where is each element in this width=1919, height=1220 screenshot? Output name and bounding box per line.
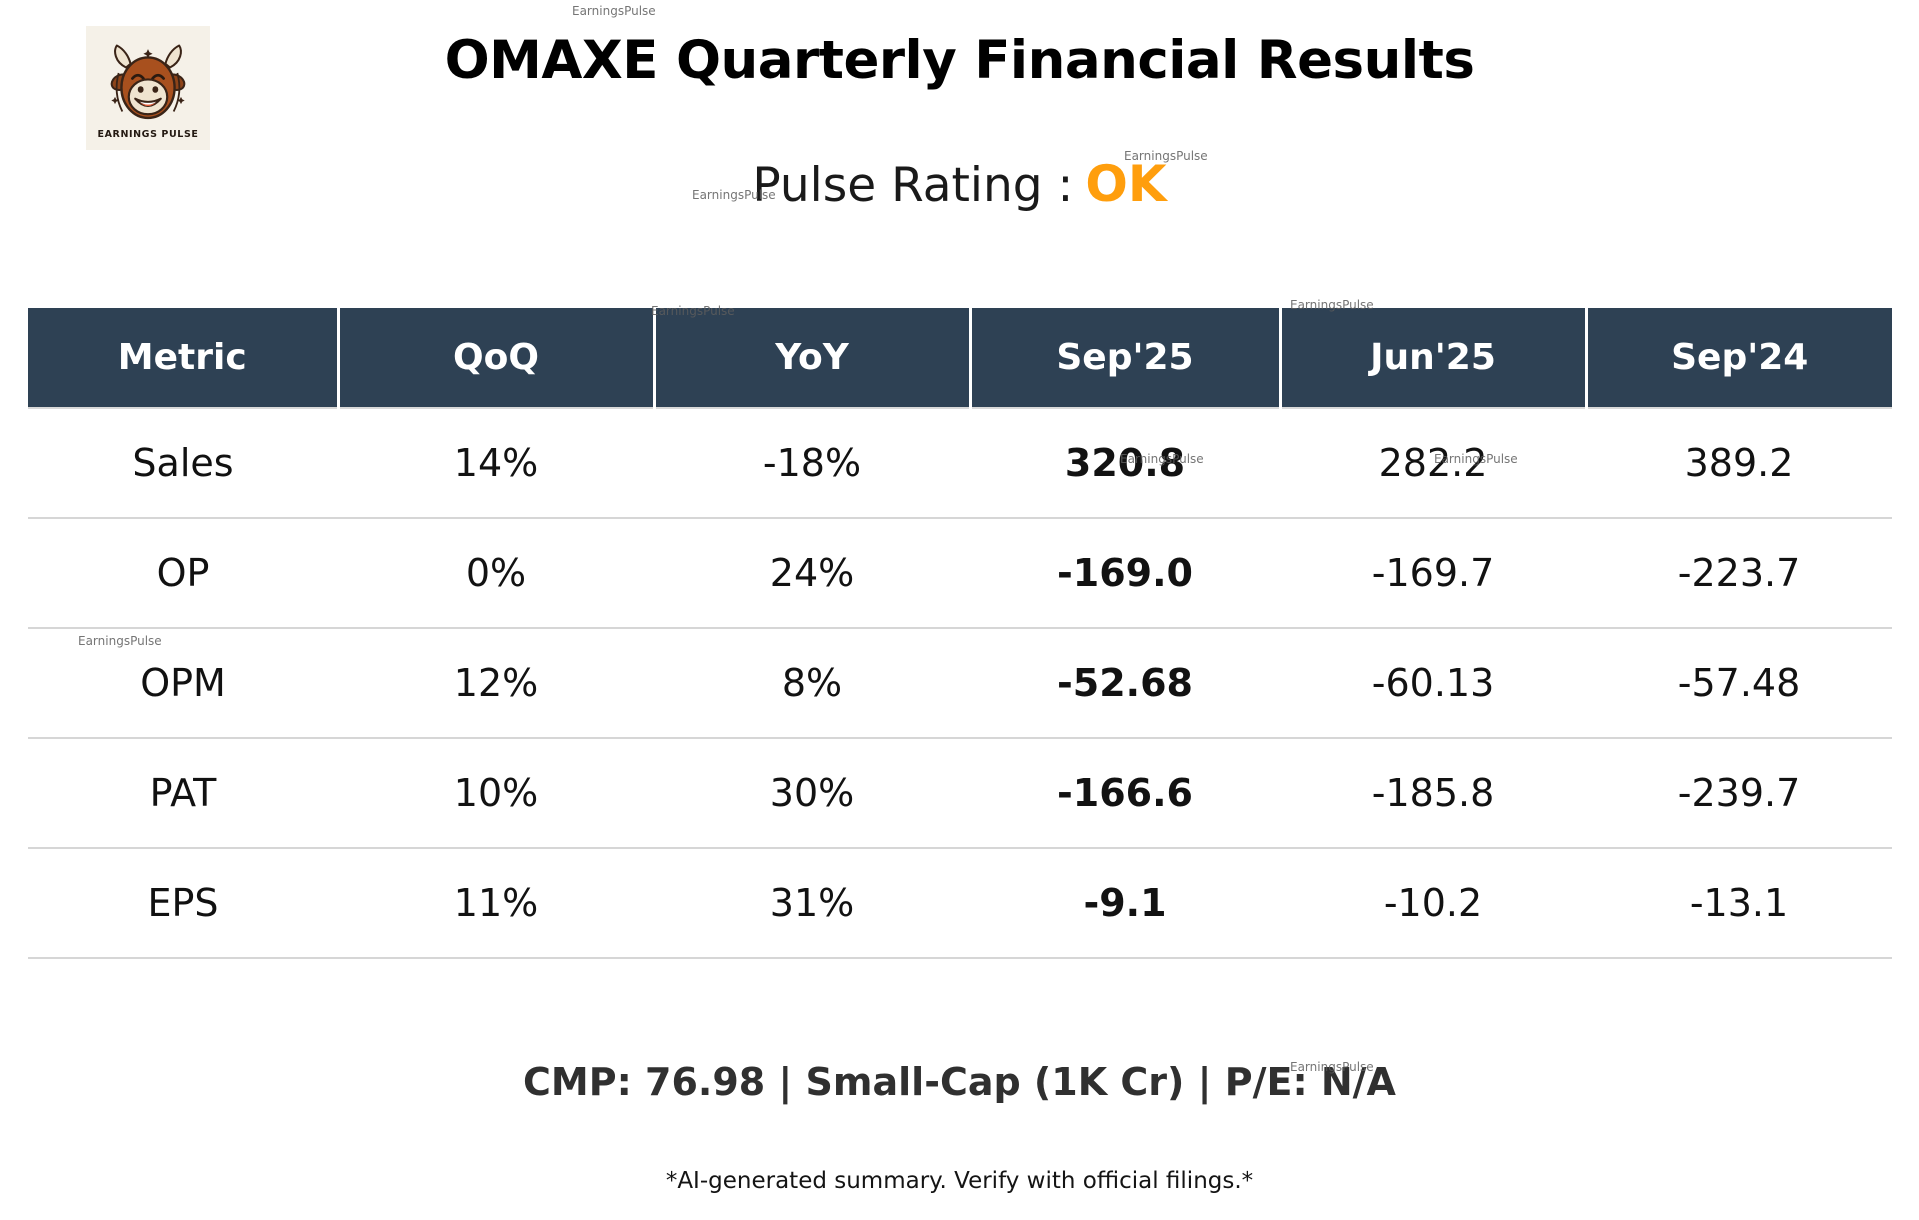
table-header-row: Metric QoQ YoY Sep'25 Jun'25 Sep'24 [28, 308, 1892, 408]
cell-year-ago-quarter: 389.2 [1586, 408, 1892, 518]
cell-yoy: 30% [654, 738, 970, 848]
table-row: PAT10%30%-166.6-185.8-239.7 [28, 738, 1892, 848]
table-row: OP0%24%-169.0-169.7-223.7 [28, 518, 1892, 628]
cell-qoq: 0% [338, 518, 654, 628]
cell-current-quarter: 320.8 [970, 408, 1280, 518]
column-header-current-quarter: Sep'25 [970, 308, 1280, 408]
cell-metric-name: OPM [28, 628, 338, 738]
table-row: EPS11%31%-9.1-10.2-13.1 [28, 848, 1892, 958]
cell-previous-quarter: -185.8 [1280, 738, 1586, 848]
disclaimer-text: *AI-generated summary. Verify with offic… [0, 1168, 1919, 1194]
column-header-yoy: YoY [654, 308, 970, 408]
cell-yoy: 31% [654, 848, 970, 958]
cell-yoy: 8% [654, 628, 970, 738]
pulse-rating: Pulse Rating :OK [0, 155, 1919, 213]
financial-results-card: EARNINGS PULSE OMAXE Quarterly Financial… [0, 0, 1919, 1220]
market-summary-line: CMP: 76.98 | Small-Cap (1K Cr) | P/E: N/… [0, 1060, 1919, 1104]
logo-wordmark: EARNINGS PULSE [97, 129, 198, 140]
column-header-year-ago-quarter: Sep'24 [1586, 308, 1892, 408]
cell-current-quarter: -9.1 [970, 848, 1280, 958]
cell-previous-quarter: 282.2 [1280, 408, 1586, 518]
column-header-metric: Metric [28, 308, 338, 408]
cell-qoq: 11% [338, 848, 654, 958]
cell-current-quarter: -169.0 [970, 518, 1280, 628]
cell-current-quarter: -52.68 [970, 628, 1280, 738]
cell-metric-name: EPS [28, 848, 338, 958]
cell-qoq: 10% [338, 738, 654, 848]
pulse-rating-label: Pulse Rating : [752, 158, 1073, 213]
cell-qoq: 12% [338, 628, 654, 738]
cell-previous-quarter: -169.7 [1280, 518, 1586, 628]
quarterly-results-table: Metric QoQ YoY Sep'25 Jun'25 Sep'24 Sale… [28, 308, 1892, 959]
pulse-rating-value: OK [1085, 155, 1166, 213]
column-header-qoq: QoQ [338, 308, 654, 408]
cell-year-ago-quarter: -13.1 [1586, 848, 1892, 958]
cell-qoq: 14% [338, 408, 654, 518]
watermark-label: EarningsPulse [572, 4, 656, 18]
cell-yoy: -18% [654, 408, 970, 518]
cell-metric-name: OP [28, 518, 338, 628]
column-header-previous-quarter: Jun'25 [1280, 308, 1586, 408]
table-row: Sales14%-18%320.8282.2389.2 [28, 408, 1892, 518]
cell-metric-name: Sales [28, 408, 338, 518]
table-row: OPM12%8%-52.68-60.13-57.48 [28, 628, 1892, 738]
cell-year-ago-quarter: -57.48 [1586, 628, 1892, 738]
cell-previous-quarter: -10.2 [1280, 848, 1586, 958]
cell-previous-quarter: -60.13 [1280, 628, 1586, 738]
cell-yoy: 24% [654, 518, 970, 628]
cell-metric-name: PAT [28, 738, 338, 848]
cell-current-quarter: -166.6 [970, 738, 1280, 848]
cell-year-ago-quarter: -223.7 [1586, 518, 1892, 628]
page-title: OMAXE Quarterly Financial Results [0, 30, 1919, 91]
cell-year-ago-quarter: -239.7 [1586, 738, 1892, 848]
